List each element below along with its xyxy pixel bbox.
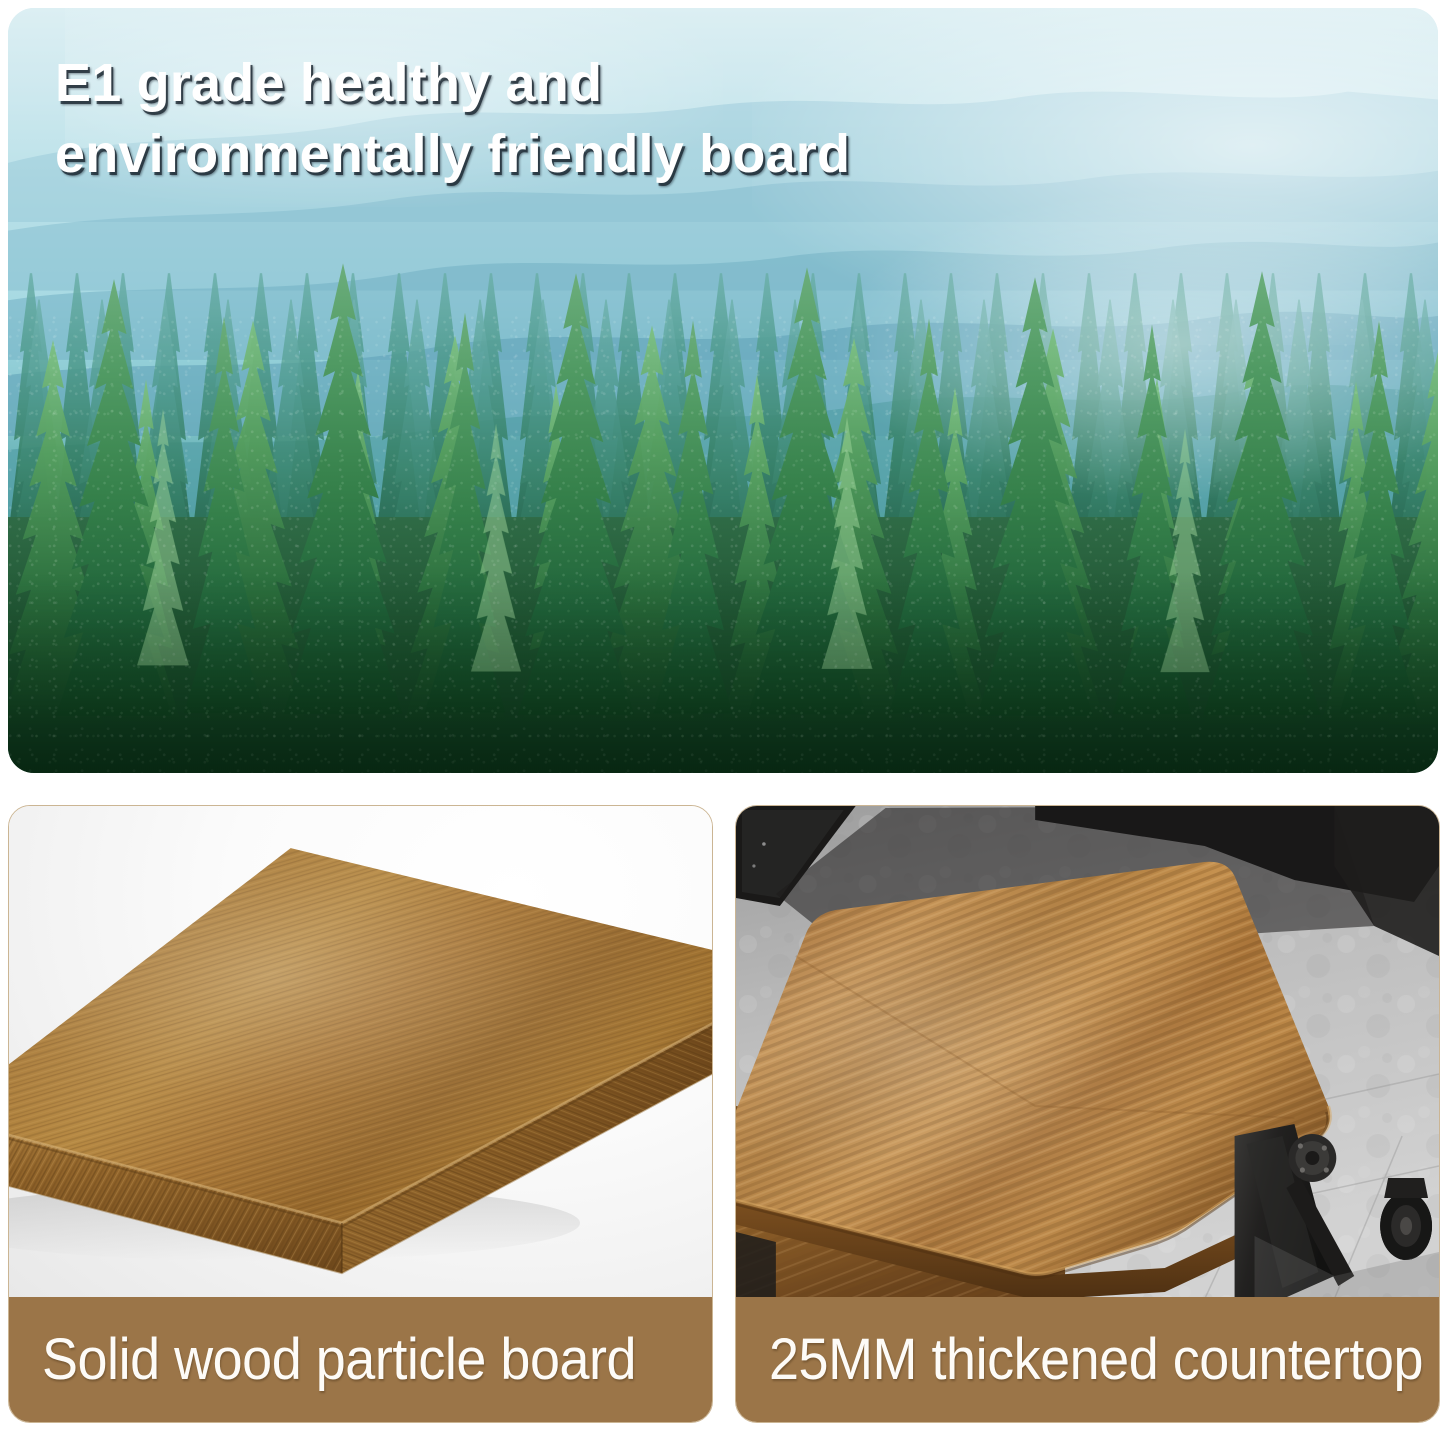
- caption-text-particle-board: Solid wood particle board: [42, 1326, 636, 1393]
- caption-bar-particle-board: Solid wood particle board: [9, 1297, 712, 1422]
- feature-card-countertop: 25MM thickened countertop: [735, 805, 1440, 1423]
- countertop-photo: [736, 806, 1439, 1299]
- caption-text-countertop: 25MM thickened countertop: [769, 1326, 1423, 1393]
- caption-bar-countertop: 25MM thickened countertop: [736, 1297, 1439, 1422]
- foreground-conifer-canopy: [8, 222, 1438, 773]
- hero-headline: E1 grade healthy and environmentally fri…: [55, 48, 1105, 191]
- product-feature-page: E1 grade healthy and environmentally fri…: [0, 0, 1445, 1435]
- wood-slab-illustration: [9, 816, 712, 1289]
- feature-cards-row: Solid wood particle board: [8, 805, 1438, 1423]
- folding-desk-illustration: [736, 806, 1439, 1299]
- particle-board-photo: [9, 806, 712, 1299]
- hero-forest-panel: E1 grade healthy and environmentally fri…: [8, 8, 1438, 773]
- feature-card-particle-board: Solid wood particle board: [8, 805, 713, 1423]
